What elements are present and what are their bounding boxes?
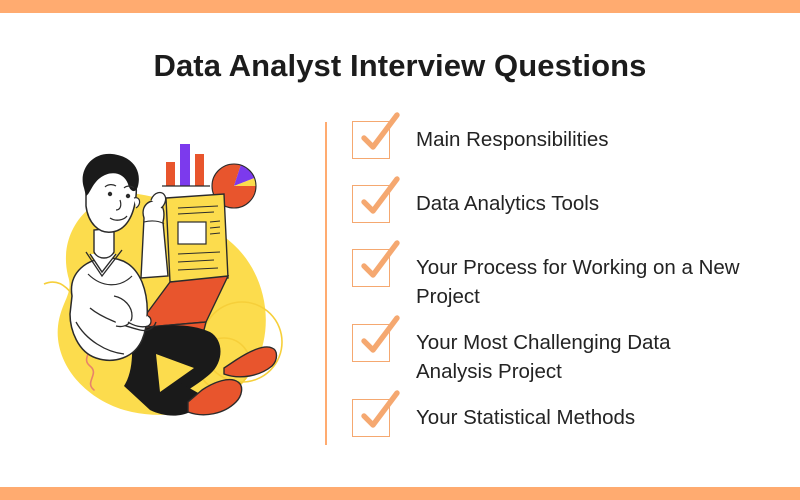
list-item-label: Data Analytics Tools [416, 182, 599, 218]
list-item[interactable]: Your Most Challenging Data Analysis Proj… [352, 321, 772, 386]
list-item[interactable]: Data Analytics Tools [352, 182, 772, 223]
checkbox-4[interactable] [352, 324, 390, 362]
list-item-label: Main Responsibilities [416, 118, 609, 154]
checkbox-1[interactable] [352, 121, 390, 159]
vertical-divider [325, 122, 327, 445]
check-icon [356, 241, 402, 287]
list-item[interactable]: Your Statistical Methods [352, 396, 772, 437]
checklist: Main Responsibilities Data Analytics Too… [352, 118, 772, 460]
bottom-accent-band [0, 487, 800, 500]
page-title: Data Analyst Interview Questions [0, 48, 800, 84]
list-item-label: Your Process for Working on a New Projec… [416, 246, 746, 311]
checkbox-2[interactable] [352, 185, 390, 223]
list-item-label: Your Most Challenging Data Analysis Proj… [416, 321, 746, 386]
data-analyst-illustration [28, 126, 318, 426]
slide-canvas: Data Analyst Interview Questions [0, 0, 800, 500]
check-icon [356, 113, 402, 159]
list-item-label: Your Statistical Methods [416, 396, 635, 432]
checkbox-5[interactable] [352, 399, 390, 437]
check-icon [356, 177, 402, 223]
top-accent-band [0, 0, 800, 13]
check-icon [356, 316, 402, 362]
list-item[interactable]: Main Responsibilities [352, 118, 772, 159]
checkbox-3[interactable] [352, 249, 390, 287]
list-item[interactable]: Your Process for Working on a New Projec… [352, 246, 772, 311]
check-icon [356, 391, 402, 437]
